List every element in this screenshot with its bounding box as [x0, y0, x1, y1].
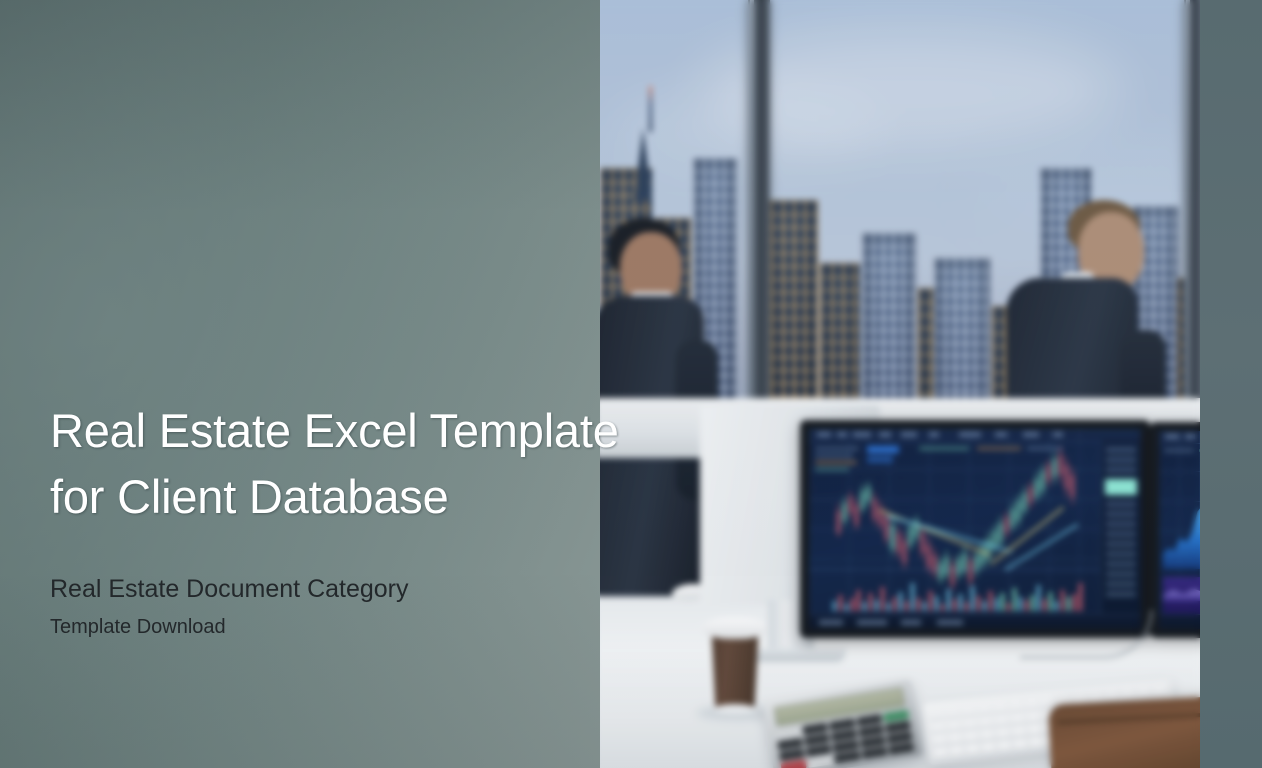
order-book-column [1100, 441, 1141, 629]
subnote: Template Download [50, 614, 690, 640]
order-book-highlight [1105, 479, 1137, 495]
secondary-lower-chart [1163, 577, 1200, 615]
chair-seam [1057, 711, 1200, 724]
trading-monitor [800, 420, 1150, 638]
panel-shading [0, 0, 600, 768]
terminal-chip [867, 446, 899, 453]
coffee-cup-base [714, 704, 756, 714]
title-block: Real Estate Excel Template for Client Da… [50, 398, 690, 640]
terminal-toolbar [809, 429, 1141, 442]
coffee-cup [708, 627, 762, 711]
slide-canvas: Real Estate Excel Template for Client Da… [0, 0, 1262, 768]
secondary-statusbar [1159, 614, 1200, 629]
right-color-band [1200, 0, 1262, 768]
page-title: Real Estate Excel Template for Client Da… [50, 398, 690, 530]
secondary-screen [1159, 431, 1200, 629]
area-chart [1163, 499, 1200, 569]
subtitle: Real Estate Document Category [50, 573, 690, 605]
left-text-panel [0, 0, 600, 768]
antenna-mast [649, 86, 652, 132]
secondary-monitor [1150, 422, 1200, 638]
trading-screen [809, 429, 1141, 629]
moving-average-line [1004, 524, 1078, 571]
area-chart-fill [1163, 499, 1200, 569]
office-chair [1048, 695, 1200, 768]
terminal-chip [867, 456, 893, 463]
secondary-wave [1163, 585, 1200, 601]
building-spire [634, 128, 652, 200]
coffee-cup-lid [702, 617, 768, 639]
